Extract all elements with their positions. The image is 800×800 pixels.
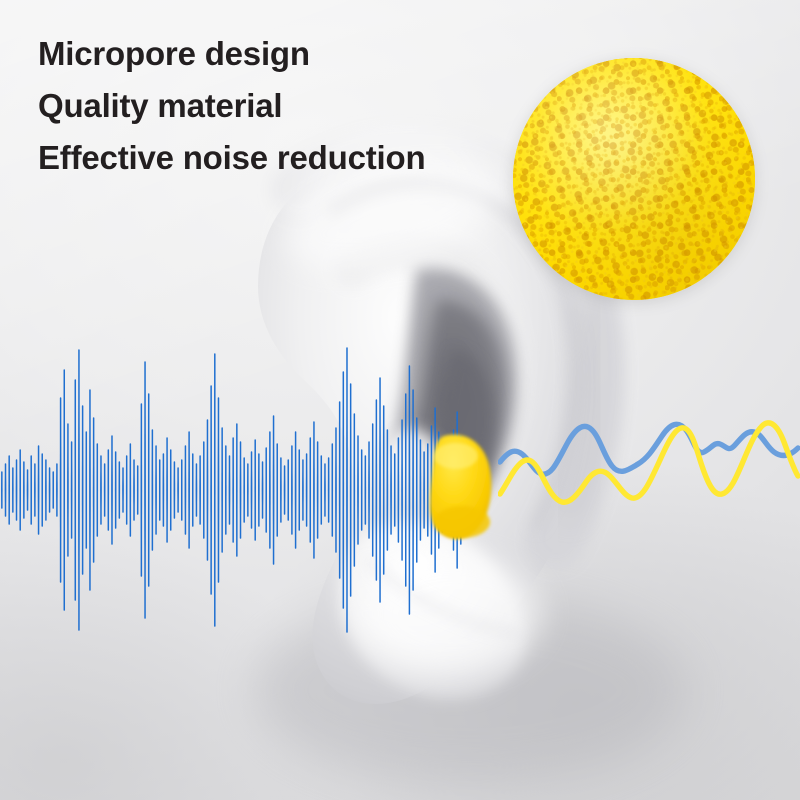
- headline-line-3: Effective noise reduction: [38, 132, 425, 184]
- foam-shading-overlay: [513, 58, 755, 300]
- micropore-foam-swatch: [513, 58, 755, 300]
- headline-block: Micropore design Quality material Effect…: [38, 28, 425, 184]
- blue-attenuated-wave: [500, 424, 798, 474]
- incoming-noise-waveform: [0, 330, 470, 660]
- product-feature-banner: Micropore design Quality material Effect…: [0, 0, 800, 800]
- yellow-attenuated-wave: [500, 423, 798, 502]
- headline-line-2: Quality material: [38, 80, 425, 132]
- attenuated-sound-waves: [498, 390, 800, 520]
- headline-line-1: Micropore design: [38, 28, 425, 80]
